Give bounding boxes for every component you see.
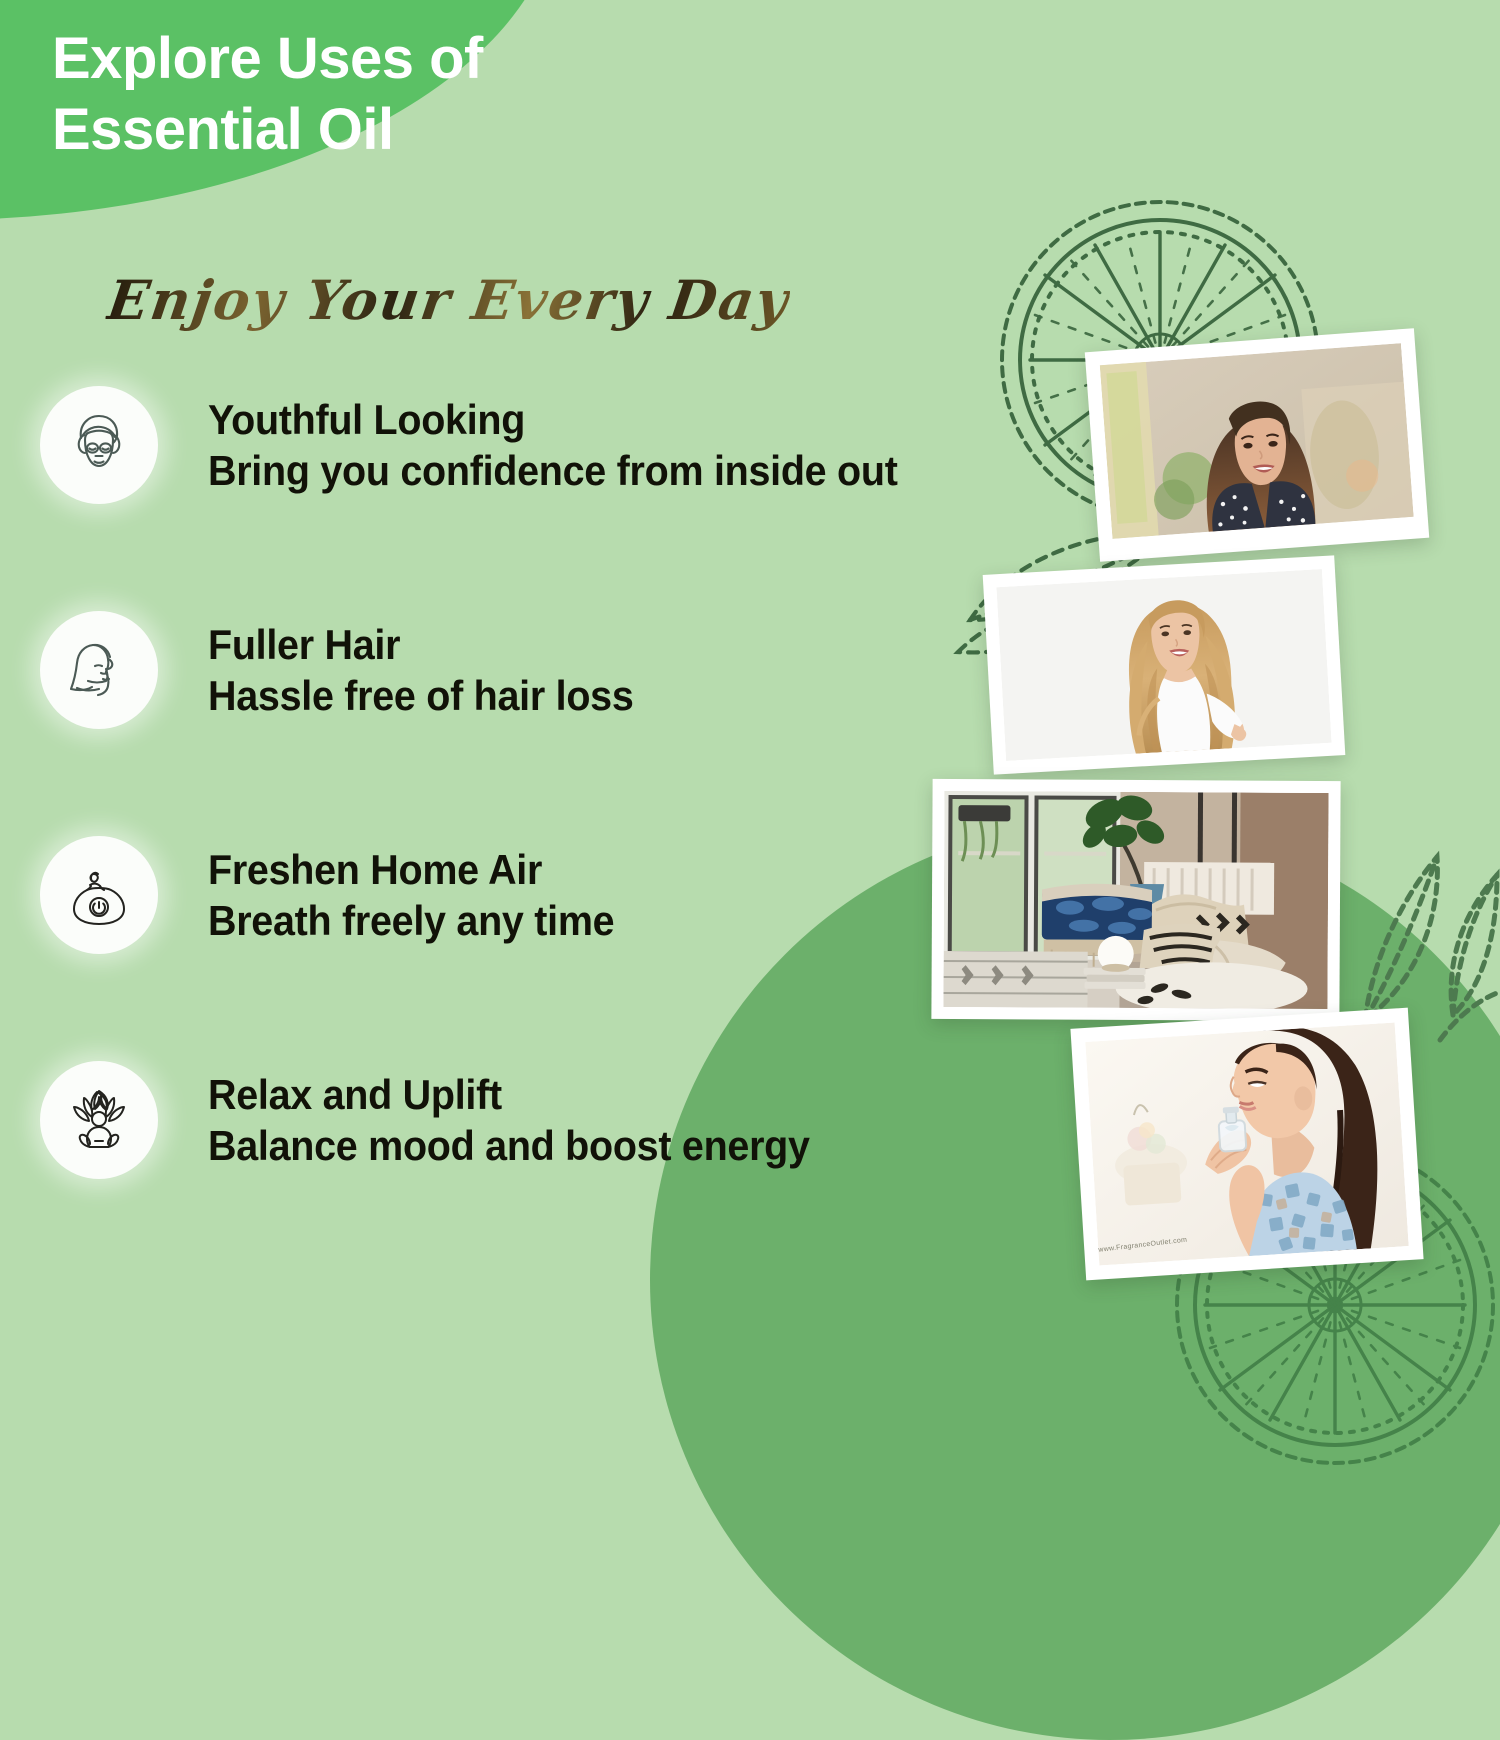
- photo-image: [1100, 343, 1414, 539]
- infographic-canvas: Explore Uses of Essential Oil Enjoy Your…: [0, 0, 1500, 1500]
- feature-title: Relax and Uplift: [208, 1069, 810, 1120]
- feature-item-youthful-looking: Youthful Looking Bring you confidence fr…: [0, 370, 1060, 520]
- page-title: Explore Uses of Essential Oil: [52, 24, 672, 166]
- feature-text: Relax and Uplift Balance mood and boost …: [208, 1069, 848, 1171]
- lotus-meditation-icon: [40, 1061, 158, 1179]
- feature-item-freshen-home-air: Freshen Home Air Breath freely any time: [0, 820, 1060, 970]
- feature-item-relax-and-uplift: Relax and Uplift Balance mood and boost …: [0, 1045, 1060, 1195]
- feature-text: Fuller Hair Hassle free of hair loss: [208, 619, 661, 721]
- feature-title: Youthful Looking: [208, 394, 898, 445]
- feature-text: Youthful Looking Bring you confidence fr…: [208, 394, 942, 496]
- photo-image: [996, 569, 1331, 761]
- feature-subtitle: Balance mood and boost energy: [208, 1120, 810, 1171]
- photo-woman-applying-perfume: www.FragranceOutlet.com: [1070, 1008, 1423, 1281]
- feature-list: Youthful Looking Bring you confidence fr…: [0, 370, 1060, 1270]
- face-mask-icon: [40, 386, 158, 504]
- photo-smiling-woman: [1085, 328, 1429, 562]
- oil-diffuser-icon: [40, 836, 158, 954]
- feature-subtitle: Breath freely any time: [208, 895, 614, 946]
- photo-image: [943, 791, 1328, 1009]
- long-hair-profile-icon: [40, 611, 158, 729]
- photo-living-room: [931, 779, 1340, 1021]
- feature-title: Freshen Home Air: [208, 844, 614, 895]
- feature-subtitle: Bring you confidence from inside out: [208, 445, 898, 496]
- photo-long-blonde-hair: [983, 555, 1346, 774]
- feature-title: Fuller Hair: [208, 619, 634, 670]
- feature-subtitle: Hassle free of hair loss: [208, 670, 634, 721]
- tagline-script: Enjoy Your Every Day: [104, 268, 794, 332]
- photo-image: [1085, 1022, 1408, 1265]
- feature-text: Freshen Home Air Breath freely any time: [208, 844, 640, 946]
- feature-item-fuller-hair: Fuller Hair Hassle free of hair loss: [0, 595, 1060, 745]
